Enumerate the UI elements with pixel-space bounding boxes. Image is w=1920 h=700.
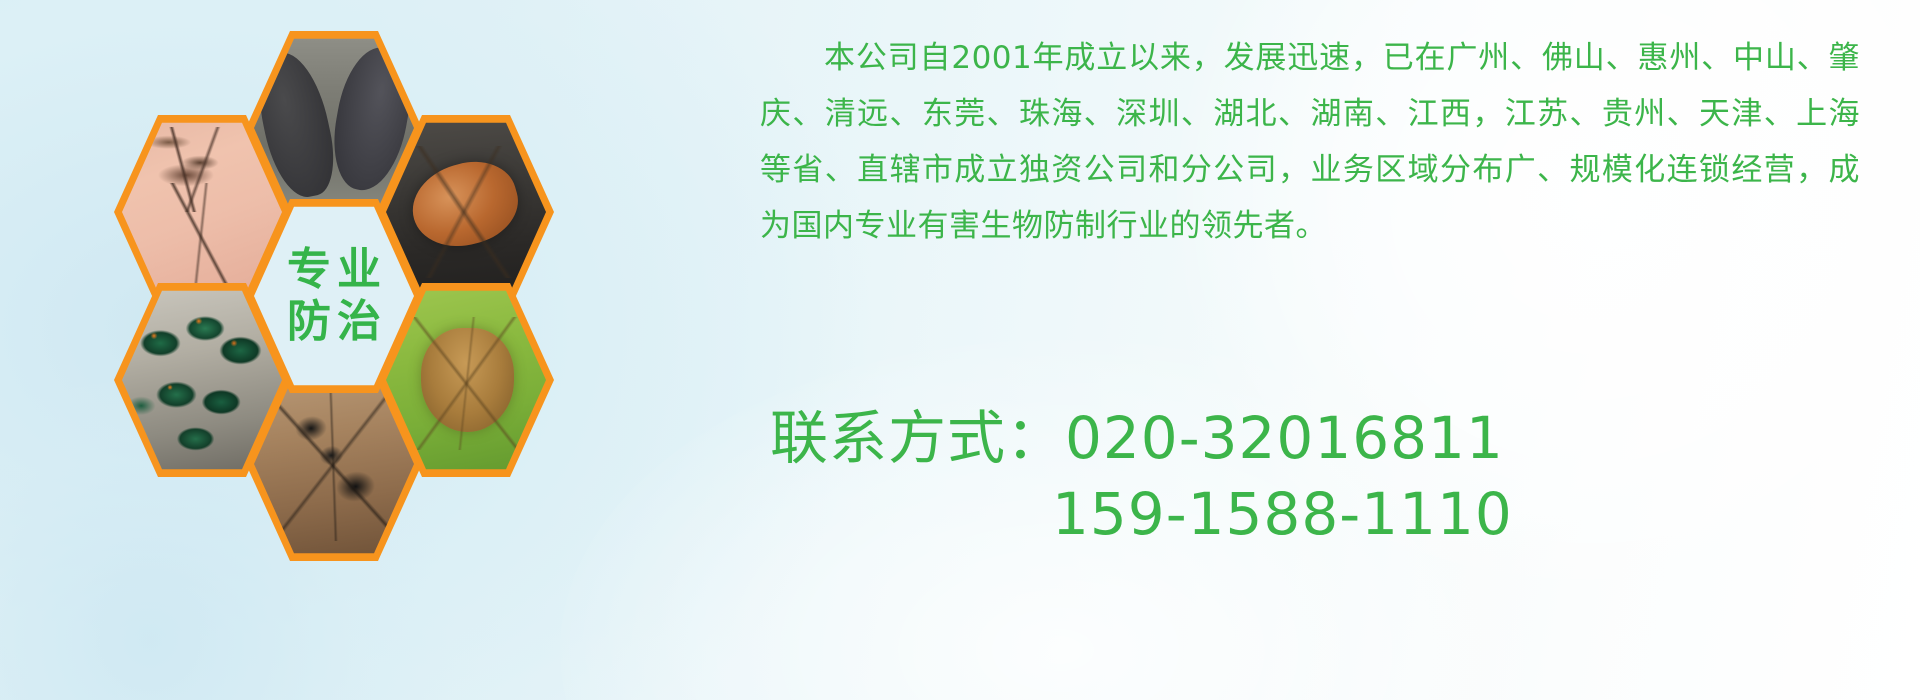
company-intro-text: 本公司自2001年成立以来，发展迅速，已在广州、佛山、惠州、中山、肇庆、清远、东… bbox=[760, 30, 1860, 254]
pest-control-banner: 专业 防治 本公司自2001年成立以来，发展迅速，已在广州、佛山、惠州、中山、肇… bbox=[0, 0, 1920, 700]
slogan-line-1: 专业 bbox=[281, 244, 387, 296]
slogan-line-2: 防治 bbox=[281, 296, 387, 348]
contact-line-mobile[interactable]: 159-1588-1110 bbox=[770, 476, 1870, 552]
honeycomb-gallery: 专业 防治 bbox=[100, 10, 600, 570]
company-intro-block: 本公司自2001年成立以来，发展迅速，已在广州、佛山、惠州、中山、肇庆、清远、东… bbox=[760, 30, 1860, 254]
contact-block: 联系方式：020-32016811 159-1588-1110 bbox=[770, 400, 1870, 552]
contact-line-landline[interactable]: 联系方式：020-32016811 bbox=[770, 400, 1870, 476]
hex-inner-slogan: 专业 防治 bbox=[254, 204, 414, 388]
